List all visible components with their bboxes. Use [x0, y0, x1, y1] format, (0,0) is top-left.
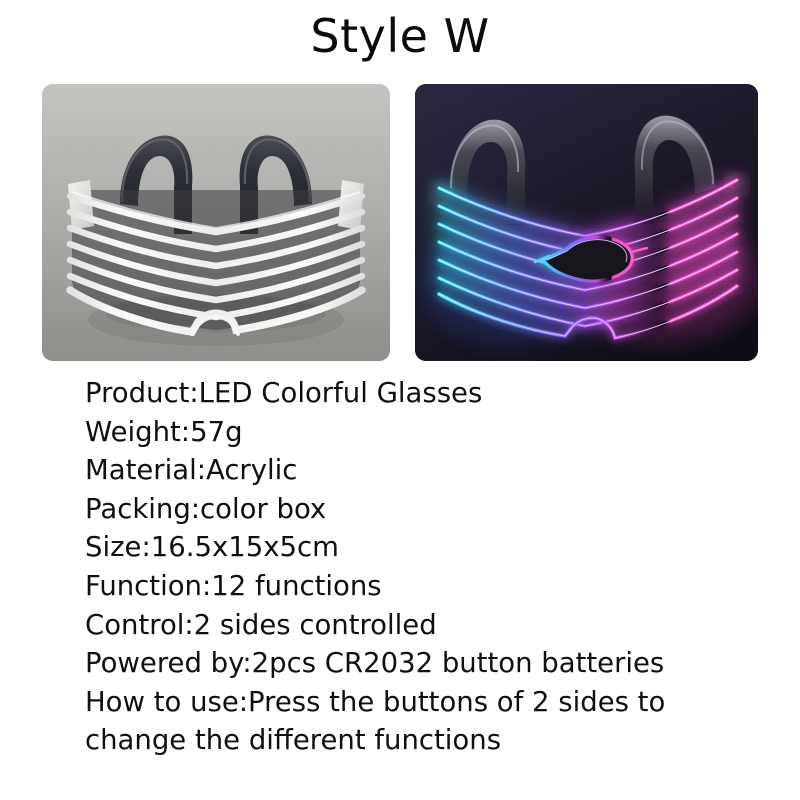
glasses-lit-illustration [415, 84, 758, 361]
spec-line-weight: Weight:57g [85, 413, 765, 452]
page-title: Style W [0, 6, 800, 66]
product-gallery [0, 84, 800, 362]
spec-line-size: Size:16.5x15x5cm [85, 528, 765, 567]
spec-line-product: Product:LED Colorful Glasses [85, 374, 765, 413]
spec-line-how-to-use: How to use:Press the buttons of 2 sides … [85, 683, 685, 760]
product-photo-unlit[interactable] [42, 84, 390, 361]
spec-line-control: Control:2 sides controlled [85, 606, 765, 645]
product-photo-lit[interactable] [415, 84, 758, 361]
product-specs: Product:LED Colorful Glasses Weight:57g … [85, 374, 765, 760]
product-detail-page: Style W [0, 0, 800, 800]
spec-line-material: Material:Acrylic [85, 451, 765, 490]
spec-line-function: Function:12 functions [85, 567, 765, 606]
spec-line-packing: Packing:color box [85, 490, 765, 529]
glasses-unlit-illustration [42, 84, 390, 361]
spec-line-powered-by: Powered by:2pcs CR2032 button batteries [85, 644, 765, 683]
